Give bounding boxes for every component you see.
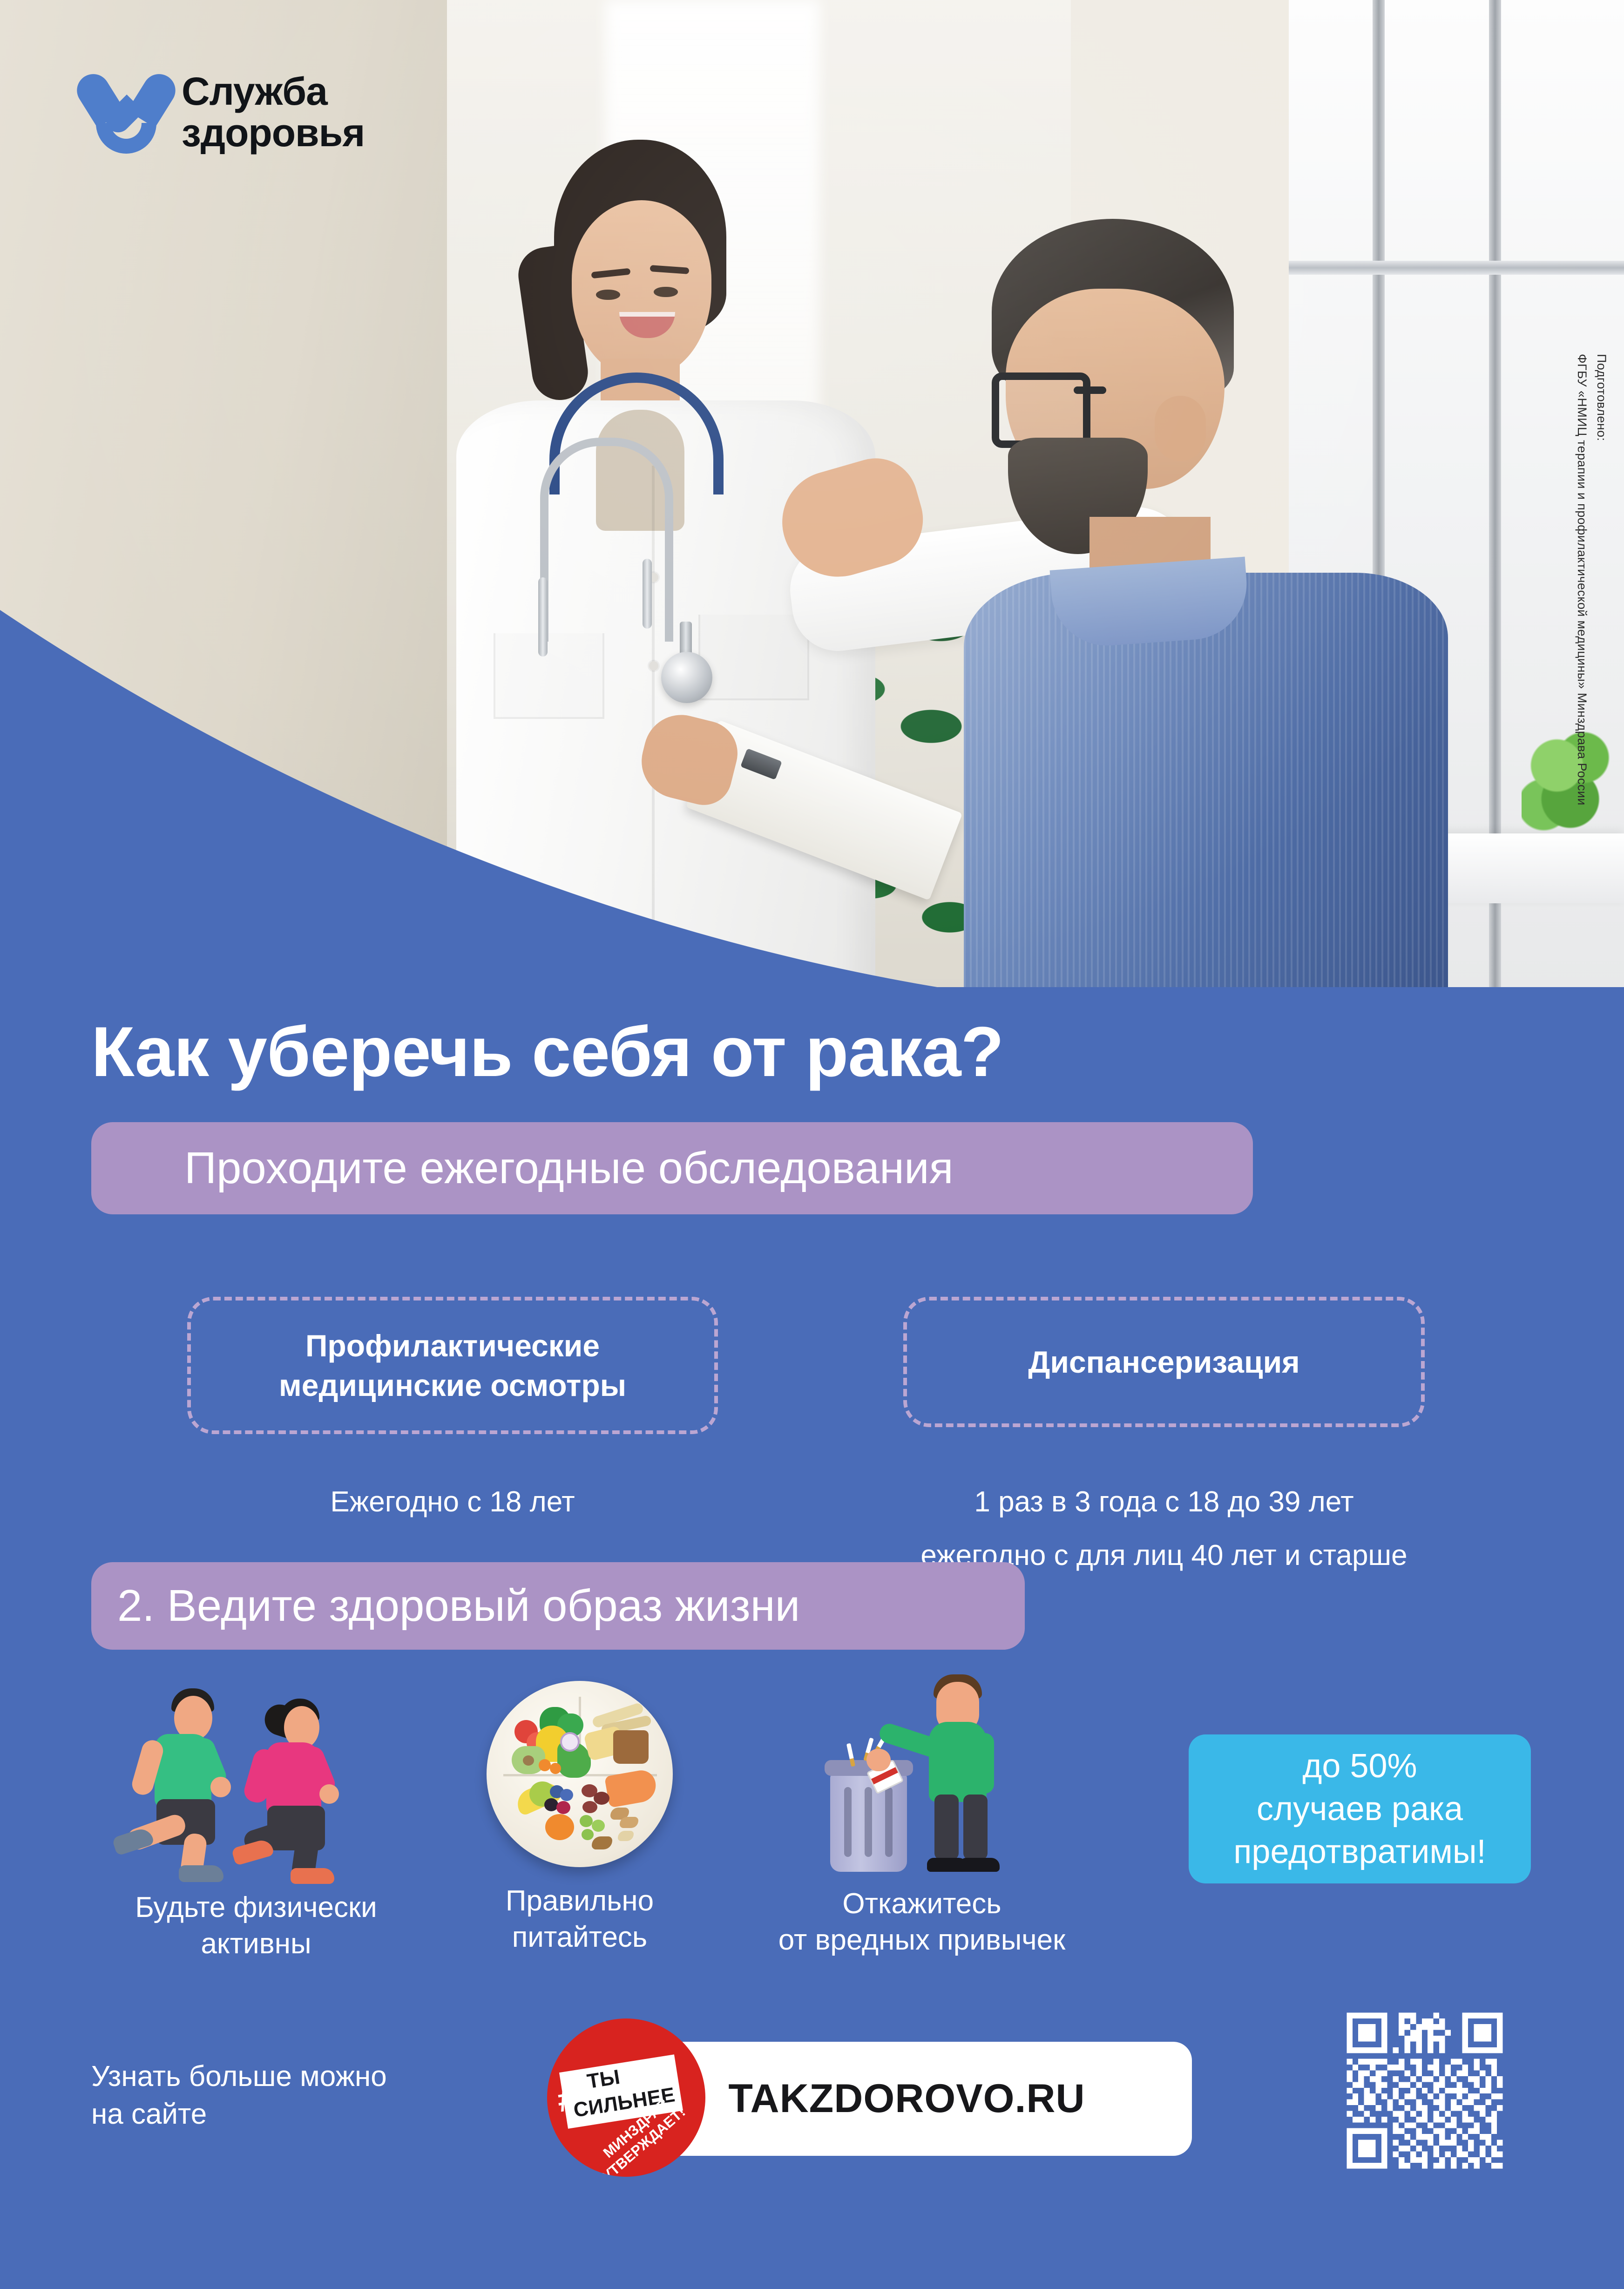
logo-text: Служба здоровья bbox=[182, 71, 365, 154]
credit-note: Подготовлено: ФГБУ «НМИЦ терапии и профи… bbox=[1572, 354, 1611, 806]
callout-line-2: случаев рака bbox=[1233, 1788, 1486, 1830]
prevention-callout: до 50% случаев рака предотвратимы! bbox=[1189, 1734, 1531, 1883]
credit-line-2: ФГБУ «НМИЦ терапии и профилактической ме… bbox=[1575, 354, 1589, 806]
lifestyle-activity-label-1: Будьте физически bbox=[93, 1889, 419, 1926]
page-title: Как уберечь себя от рака? bbox=[91, 1011, 1003, 1093]
section-1-banner-label: Проходите ежегодные обследования bbox=[184, 1143, 954, 1194]
credit-line-1: Подготовлено: bbox=[1595, 354, 1609, 441]
footer-note: Узнать больше можно на сайте bbox=[91, 2058, 387, 2133]
section-1-banner: Проходите ежегодные обследования bbox=[91, 1122, 1253, 1214]
dispensary-label: Диспансеризация bbox=[1028, 1342, 1299, 1382]
preventive-exams-caption: Ежегодно с 18 лет bbox=[187, 1485, 718, 1518]
lifestyle-habits-label-2: от вредных привычек bbox=[745, 1922, 1099, 1958]
poster-root: Служба здоровья Подготовлено: ФГБУ «НМИЦ… bbox=[0, 0, 1624, 2289]
qr-code-icon[interactable] bbox=[1341, 2007, 1509, 2174]
website-button[interactable]: TAKZDOROVO.RU bbox=[622, 2042, 1192, 2156]
lifestyle-item-activity: Будьте физически активны bbox=[93, 1672, 419, 1962]
section-2-banner: 2. Ведите здоровый образ жизни bbox=[91, 1562, 1025, 1650]
running-people-icon bbox=[112, 1672, 400, 1872]
logo-line-2: здоровья bbox=[182, 112, 365, 154]
section-2-banner-label: 2. Ведите здоровый образ жизни bbox=[117, 1580, 800, 1632]
dispensary-caption-1: 1 раз в 3 года с 18 до 39 лет bbox=[880, 1485, 1448, 1518]
heart-smile-icon bbox=[91, 69, 161, 156]
dispensary-box: Диспансеризация bbox=[903, 1297, 1425, 1427]
lifestyle-nutrition-label-1: Правильно bbox=[445, 1883, 715, 1919]
healthy-plate-icon bbox=[487, 1681, 673, 1867]
website-url: TAKZDOROVO.RU bbox=[728, 2076, 1085, 2122]
eyeglasses-icon bbox=[992, 372, 1090, 448]
lifestyle-item-habits: Откажитесь от вредных привычек bbox=[745, 1672, 1099, 1958]
lifestyle-activity-label-2: активны bbox=[93, 1926, 419, 1962]
logo-line-1: Служба bbox=[182, 71, 365, 112]
lifestyle-habits-label-1: Откажитесь bbox=[745, 1886, 1099, 1922]
footer-note-line-1: Узнать больше можно bbox=[91, 2058, 387, 2096]
preventive-exams-box: Профилактические медицинские осмотры bbox=[187, 1297, 718, 1434]
patient-figure bbox=[936, 219, 1448, 992]
callout-line-3: предотвратимы! bbox=[1233, 1830, 1486, 1873]
ty-silnee-badge: # ТЫ СИЛЬНЕЕ МИНЗДРАВ УТВЕРЖДАЕТ! bbox=[547, 2018, 705, 2177]
lifestyle-nutrition-label-2: питайтесь bbox=[445, 1919, 715, 1956]
footer-note-line-2: на сайте bbox=[91, 2096, 387, 2133]
lifestyle-item-nutrition: Правильно питайтесь bbox=[445, 1681, 715, 1955]
callout-line-1: до 50% bbox=[1233, 1745, 1486, 1788]
quit-smoking-trash-icon bbox=[822, 1672, 1022, 1872]
logo: Служба здоровья bbox=[91, 69, 365, 156]
preventive-exams-line-2: медицинские осмотры bbox=[279, 1366, 626, 1405]
stethoscope-icon bbox=[661, 652, 712, 703]
preventive-exams-line-1: Профилактические bbox=[279, 1326, 626, 1365]
